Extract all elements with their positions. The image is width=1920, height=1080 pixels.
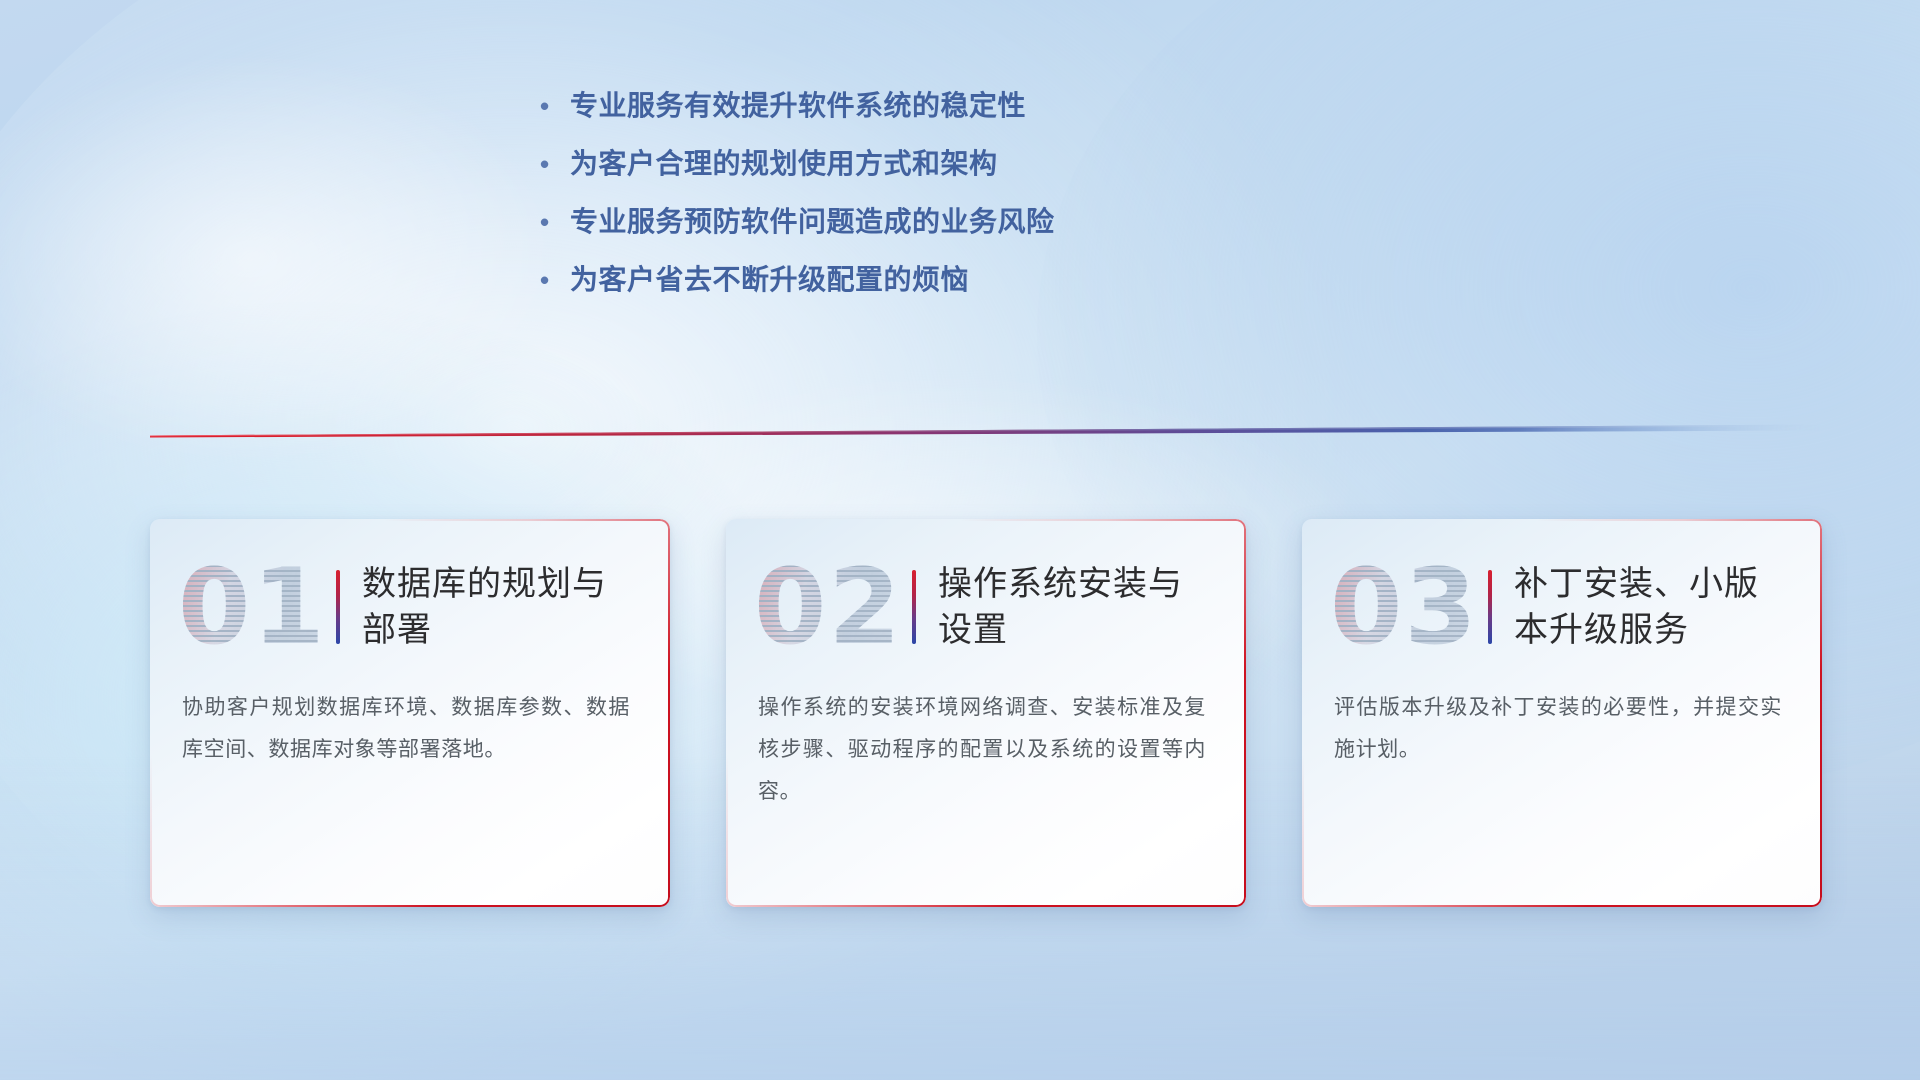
card-description: 协助客户规划数据库环境、数据库参数、数据库空间、数据库对象等部署落地。 <box>150 669 670 771</box>
bullet-point-icon: • <box>540 144 570 184</box>
bullet-point-icon: • <box>540 202 570 242</box>
card-title: 操作系统安装与设置 <box>938 561 1216 653</box>
card-description: 操作系统的安装环境网络调查、安装标准及复核步骤、驱动程序的配置以及系统的设置等内… <box>726 669 1246 813</box>
card-number: 03 <box>1330 555 1486 659</box>
card-header: 03 补丁安装、小版本升级服务 <box>1302 519 1822 669</box>
service-card-01[interactable]: 01 数据库的规划与部署 协助客户规划数据库环境、数据库参数、数据库空间、数据库… <box>150 519 670 907</box>
list-item: • 专业服务预防软件问题造成的业务风险 <box>540 202 1160 242</box>
service-cards-row: 01 数据库的规划与部署 协助客户规划数据库环境、数据库参数、数据库空间、数据库… <box>150 519 1822 907</box>
service-card-02[interactable]: 02 操作系统安装与设置 操作系统的安装环境网络调查、安装标准及复核步骤、驱动程… <box>726 519 1246 907</box>
card-header: 01 数据库的规划与部署 <box>150 519 670 669</box>
card-description: 评估版本升级及补丁安装的必要性，并提交实施计划。 <box>1302 669 1822 771</box>
card-divider-bar-icon <box>1488 570 1492 644</box>
card-divider-bar-icon <box>336 570 340 644</box>
bullet-text: 专业服务预防软件问题造成的业务风险 <box>570 202 1160 242</box>
bullet-text: 专业服务有效提升软件系统的稳定性 <box>570 86 1160 126</box>
list-item: • 为客户合理的规划使用方式和架构 <box>540 144 1160 184</box>
card-divider-bar-icon <box>912 570 916 644</box>
list-item: • 为客户省去不断升级配置的烦恼 <box>540 260 1160 300</box>
list-item: • 专业服务有效提升软件系统的稳定性 <box>540 86 1160 126</box>
card-number: 01 <box>178 555 334 659</box>
benefits-bullet-list: • 专业服务有效提升软件系统的稳定性 • 为客户合理的规划使用方式和架构 • 专… <box>540 86 1160 318</box>
card-header: 02 操作系统安装与设置 <box>726 519 1246 669</box>
bullet-point-icon: • <box>540 260 570 300</box>
bullet-point-icon: • <box>540 86 570 126</box>
card-title: 补丁安装、小版本升级服务 <box>1514 561 1792 653</box>
card-title: 数据库的规划与部署 <box>362 561 640 653</box>
card-number: 02 <box>754 555 910 659</box>
bullet-text: 为客户合理的规划使用方式和架构 <box>570 144 1160 184</box>
service-card-03[interactable]: 03 补丁安装、小版本升级服务 评估版本升级及补丁安装的必要性，并提交实施计划。 <box>1302 519 1822 907</box>
bullet-text: 为客户省去不断升级配置的烦恼 <box>570 260 1160 300</box>
